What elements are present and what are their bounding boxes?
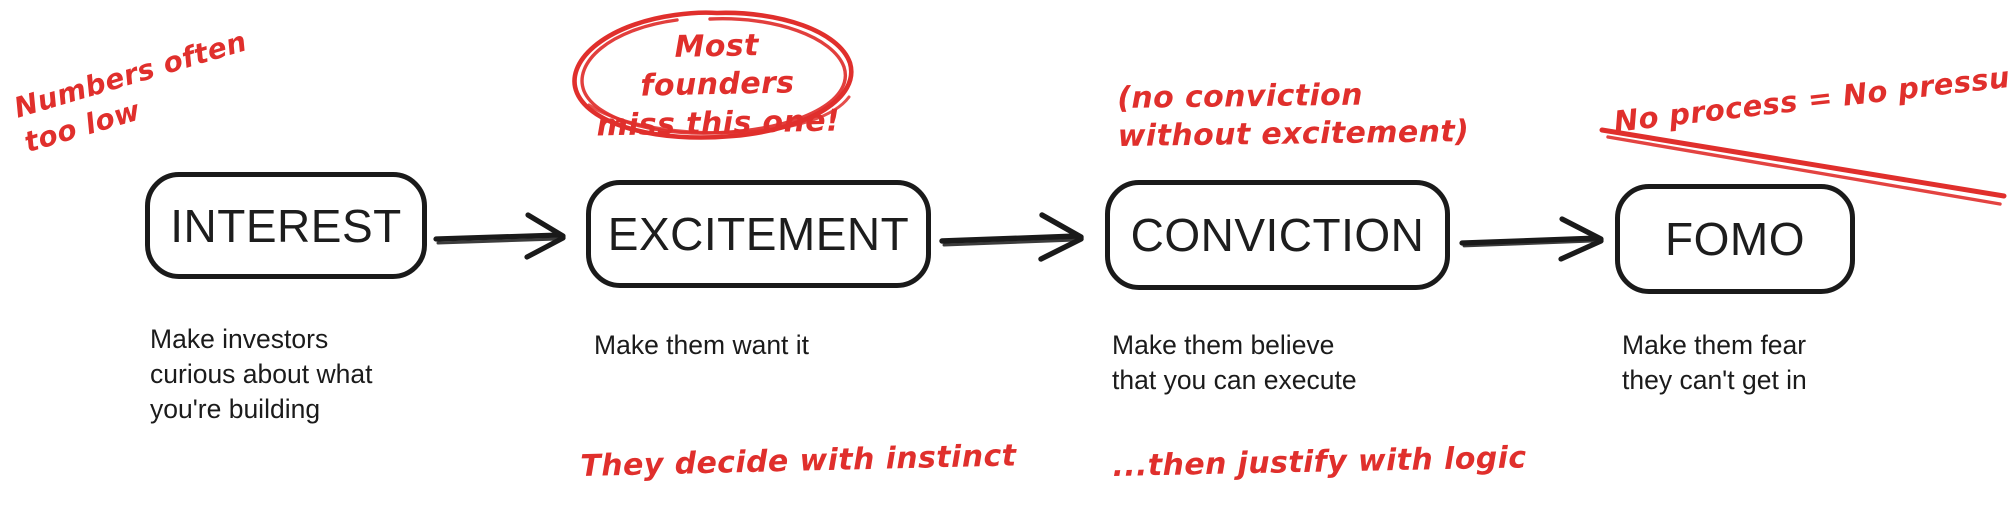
stage-box-fomo[interactable]: FOMO: [1615, 184, 1855, 294]
stage-caption-excitement: Make them want it: [594, 328, 924, 363]
stage-box-excitement[interactable]: EXCITEMENT: [586, 180, 931, 288]
arrow-right-icon: [938, 205, 1103, 270]
stage-label-fomo: FOMO: [1665, 216, 1805, 262]
annotation-numbers-too-low: Numbers often too low: [10, 24, 261, 161]
annotation-no-conviction-without-excitement: (no conviction without excitement): [1117, 75, 1470, 157]
stage-caption-conviction: Make them believe that you can execute: [1112, 328, 1512, 398]
stage-box-interest[interactable]: INTEREST: [145, 172, 427, 279]
stage-label-excitement: EXCITEMENT: [608, 211, 909, 257]
stage-label-interest: INTEREST: [170, 203, 401, 249]
annotation-justify-with-logic: ...then justify with logic: [1112, 439, 1527, 486]
annotation-most-founders-miss: Most founders miss this one!: [594, 25, 841, 145]
annotation-decide-with-instinct: They decide with instinct: [580, 437, 1017, 486]
arrow-right-icon: [432, 205, 587, 270]
stage-label-conviction: CONVICTION: [1131, 212, 1425, 258]
arrow-right-icon: [1452, 205, 1617, 270]
stage-caption-interest: Make investors curious about what you're…: [150, 322, 450, 428]
stage-box-conviction[interactable]: CONVICTION: [1105, 180, 1450, 290]
diagram-canvas: Numbers often too low Most founders miss…: [0, 0, 2010, 522]
stage-caption-fomo: Make them fear they can't get in: [1622, 328, 1942, 398]
